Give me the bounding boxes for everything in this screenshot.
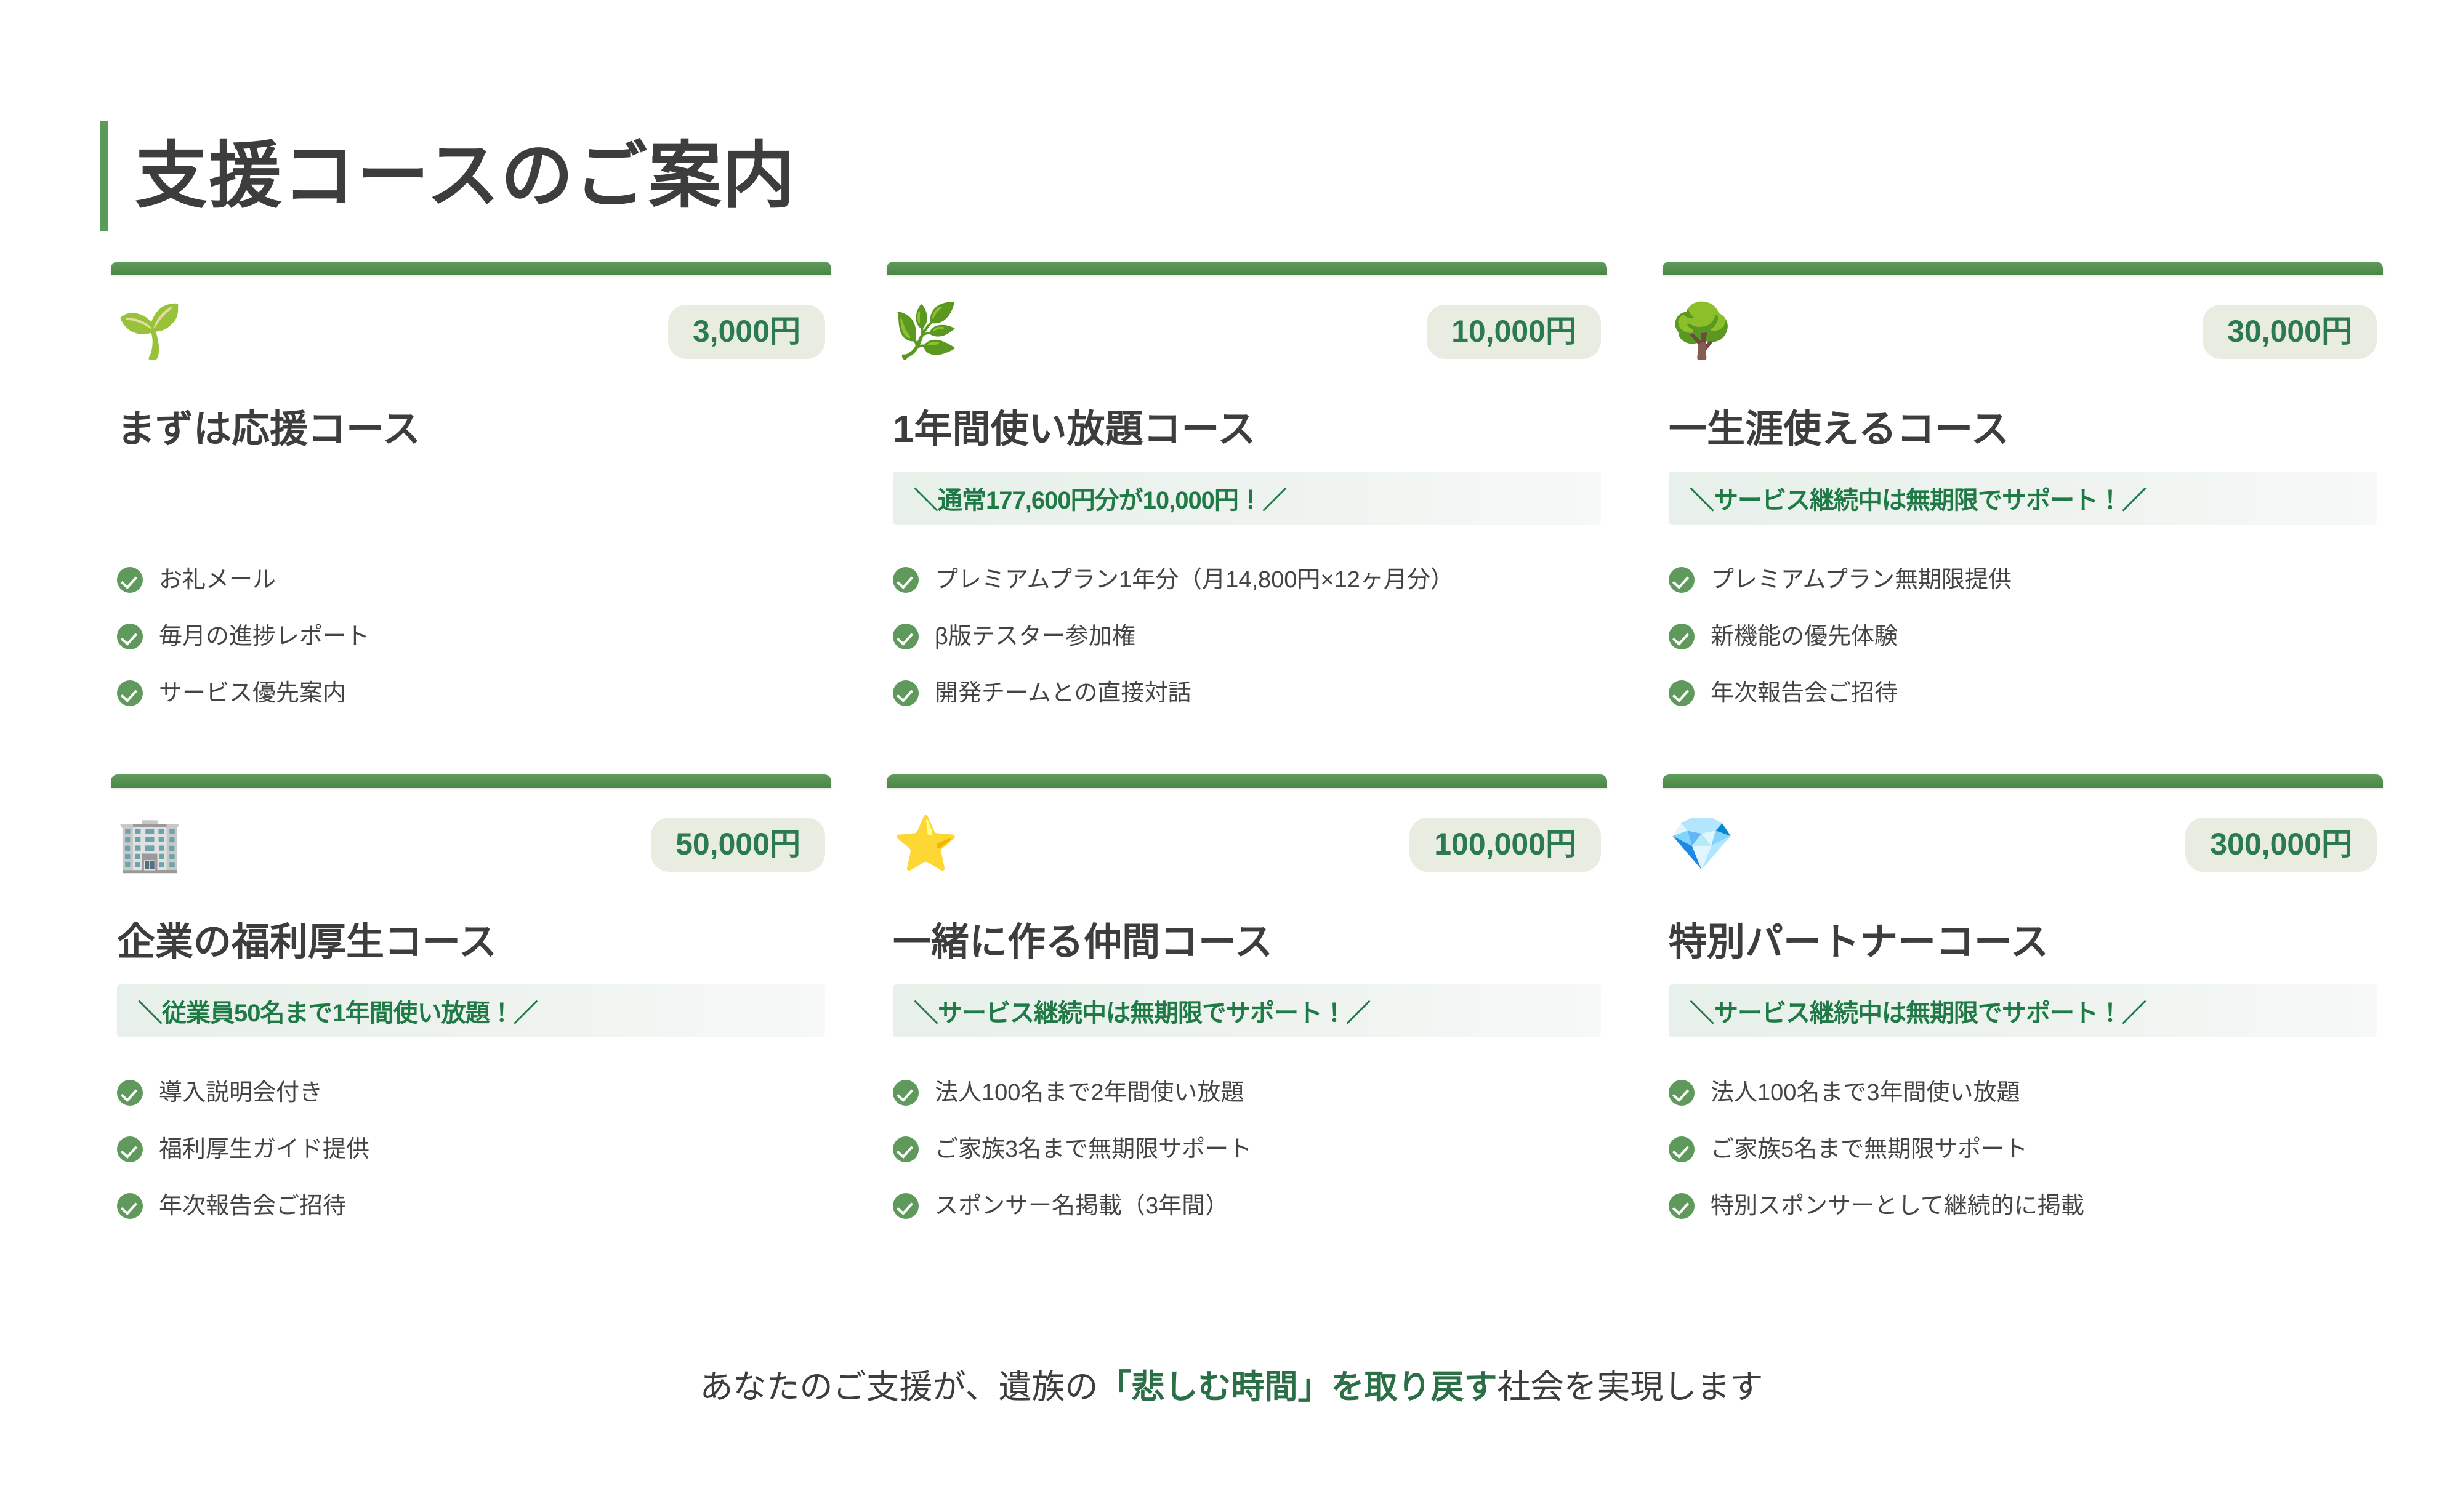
feature-label: サービス優先案内 — [159, 682, 346, 705]
card-highlight-text: ＼従業員50名まで1年間使い放題！／ — [138, 993, 538, 1029]
price-badge: 50,000円 — [651, 818, 825, 872]
course-card-grid: 🌱3,000円まずは応援コースお礼メール毎月の進捗レポートサービス優先案内🌿10… — [111, 262, 2395, 1234]
feature-item: 法人100名まで3年間使い放題 — [1669, 1064, 2377, 1121]
feature-list: 法人100名まで3年間使い放題ご家族5名まで無期限サポート特別スポンサーとして継… — [1669, 1064, 2377, 1234]
footer-tail-text: 社会を実現します — [1497, 1369, 1763, 1405]
feature-item: 特別スポンサーとして継続的に掲載 — [1669, 1178, 2377, 1234]
course-card[interactable]: 🏢50,000円企業の福利厚生コース＼従業員50名まで1年間使い放題！／導入説明… — [111, 774, 831, 1234]
feature-item: スポンサー名掲載（3年間） — [893, 1178, 1601, 1234]
feature-label: 毎月の進捗レポート — [159, 625, 369, 648]
footer-message: あなたのご支援が、遺族の「悲しむ時間」を取り戻す社会を実現します — [0, 1359, 2463, 1408]
feature-item: 福利厚生ガイド提供 — [117, 1121, 825, 1178]
check-circle-icon — [117, 1136, 143, 1162]
feature-label: スポンサー名掲載（3年間） — [935, 1194, 1228, 1218]
check-circle-icon — [1669, 1193, 1695, 1219]
footer-emphasis-text: 「悲しむ時間」を取り戻す — [1098, 1369, 1497, 1405]
course-card[interactable]: 🌱3,000円まずは応援コースお礼メール毎月の進捗レポートサービス優先案内 — [111, 262, 831, 722]
feature-label: 法人100名まで3年間使い放題 — [1711, 1081, 2020, 1104]
card-title: 一生涯使えるコース — [1669, 409, 2377, 449]
card-highlight-text: ＼通常177,600円分が10,000円！／ — [914, 480, 1286, 516]
card-highlight-banner: ＼サービス継続中は無期限でサポート！／ — [1669, 984, 2377, 1037]
card-highlight-banner: ＼従業員50名まで1年間使い放題！／ — [117, 984, 825, 1037]
card-body: 🌱3,000円まずは応援コースお礼メール毎月の進捗レポートサービス優先案内 — [111, 275, 831, 722]
card-header-row: 🌱3,000円 — [117, 305, 825, 377]
card-body: 🌿10,000円1年間使い放題コース＼通常177,600円分が10,000円！／… — [887, 275, 1607, 722]
course-card[interactable]: 🌿10,000円1年間使い放題コース＼通常177,600円分が10,000円！／… — [887, 262, 1607, 722]
gem-icon: 💎 — [1669, 818, 1735, 871]
check-circle-icon — [893, 680, 919, 706]
course-card[interactable]: 💎300,000円特別パートナーコース＼サービス継続中は無期限でサポート！／法人… — [1663, 774, 2383, 1234]
feature-list: お礼メール毎月の進捗レポートサービス優先案内 — [117, 552, 825, 722]
tree-icon: 🌳 — [1669, 305, 1735, 358]
feature-list: プレミアムプラン1年分（月14,800円×12ヶ月分）β版テスター参加権開発チー… — [893, 552, 1601, 722]
feature-label: プレミアムプラン無期限提供 — [1711, 568, 2012, 592]
card-accent-bar — [887, 262, 1607, 275]
check-circle-icon — [117, 1193, 143, 1219]
card-highlight-banner: ＼通常177,600円分が10,000円！／ — [893, 472, 1601, 525]
feature-list: プレミアムプラン無期限提供新機能の優先体験年次報告会ご招待 — [1669, 552, 2377, 722]
card-highlight-text: ＼サービス継続中は無期限でサポート！／ — [914, 993, 1370, 1029]
card-title: 一緒に作る仲間コース — [893, 922, 1601, 962]
price-badge: 300,000円 — [2185, 818, 2377, 872]
feature-item: 年次報告会ご招待 — [1669, 665, 2377, 722]
card-title: 企業の福利厚生コース — [117, 922, 825, 962]
check-circle-icon — [1669, 567, 1695, 593]
card-header-row: 🌿10,000円 — [893, 305, 1601, 377]
star-icon: ⭐ — [893, 818, 959, 871]
feature-item: お礼メール — [117, 552, 825, 608]
check-circle-icon — [1669, 680, 1695, 706]
seedling-icon: 🌱 — [117, 305, 183, 358]
title-accent-bar — [100, 121, 108, 231]
card-highlight-text: ＼サービス継続中は無期限でサポート！／ — [1690, 480, 2146, 516]
check-circle-icon — [117, 1080, 143, 1106]
feature-item: ご家族5名まで無期限サポート — [1669, 1121, 2377, 1178]
check-circle-icon — [117, 567, 143, 593]
course-card[interactable]: 🌳30,000円一生涯使えるコース＼サービス継続中は無期限でサポート！／プレミア… — [1663, 262, 2383, 722]
check-circle-icon — [893, 1136, 919, 1162]
feature-label: 特別スポンサーとして継続的に掲載 — [1711, 1194, 2084, 1218]
check-circle-icon — [117, 624, 143, 649]
page-header: 支援コースのご案内 — [100, 91, 796, 261]
price-badge: 100,000円 — [1409, 818, 1601, 872]
feature-label: ご家族5名まで無期限サポート — [1711, 1138, 2028, 1161]
card-body: 🌳30,000円一生涯使えるコース＼サービス継続中は無期限でサポート！／プレミア… — [1663, 275, 2383, 722]
check-circle-icon — [893, 567, 919, 593]
card-highlight-text: ＼サービス継続中は無期限でサポート！／ — [1690, 993, 2146, 1029]
price-badge: 3,000円 — [668, 305, 825, 359]
feature-item: ご家族3名まで無期限サポート — [893, 1121, 1601, 1178]
check-circle-icon — [893, 1193, 919, 1219]
card-header-row: 💎300,000円 — [1669, 818, 2377, 890]
check-circle-icon — [893, 1080, 919, 1106]
check-circle-icon — [117, 680, 143, 706]
card-highlight-banner: ＼サービス継続中は無期限でサポート！／ — [1669, 472, 2377, 525]
feature-label: 開発チームとの直接対話 — [935, 682, 1191, 705]
card-header-row: 🌳30,000円 — [1669, 305, 2377, 377]
feature-item: 導入説明会付き — [117, 1064, 825, 1121]
price-badge: 10,000円 — [1427, 305, 1601, 359]
page-title: 支援コースのご案内 — [135, 140, 796, 212]
feature-item: β版テスター参加権 — [893, 608, 1601, 665]
card-accent-bar — [111, 774, 831, 788]
feature-label: 新機能の優先体験 — [1711, 625, 1898, 648]
feature-label: 年次報告会ご招待 — [159, 1194, 346, 1218]
feature-item: 毎月の進捗レポート — [117, 608, 825, 665]
feature-item: 新機能の優先体験 — [1669, 608, 2377, 665]
card-title: 特別パートナーコース — [1669, 922, 2377, 962]
check-circle-icon — [893, 624, 919, 649]
card-body: 🏢50,000円企業の福利厚生コース＼従業員50名まで1年間使い放題！／導入説明… — [111, 788, 831, 1234]
card-body: ⭐100,000円一緒に作る仲間コース＼サービス継続中は無期限でサポート！／法人… — [887, 788, 1607, 1234]
card-body: 💎300,000円特別パートナーコース＼サービス継続中は無期限でサポート！／法人… — [1663, 788, 2383, 1234]
feature-label: 福利厚生ガイド提供 — [159, 1138, 369, 1161]
feature-label: β版テスター参加権 — [935, 625, 1135, 648]
card-title: 1年間使い放題コース — [893, 409, 1601, 449]
feature-list: 法人100名まで2年間使い放題ご家族3名まで無期限サポートスポンサー名掲載（3年… — [893, 1064, 1601, 1234]
card-accent-bar — [111, 262, 831, 275]
check-circle-icon — [1669, 1136, 1695, 1162]
card-accent-bar — [1663, 774, 2383, 788]
course-card[interactable]: ⭐100,000円一緒に作る仲間コース＼サービス継続中は無期限でサポート！／法人… — [887, 774, 1607, 1234]
card-accent-bar — [887, 774, 1607, 788]
card-title: まずは応援コース — [117, 409, 825, 449]
feature-label: 導入説明会付き — [159, 1081, 323, 1104]
feature-item: 開発チームとの直接対話 — [893, 665, 1601, 722]
herb-icon: 🌿 — [893, 305, 959, 358]
card-header-row: 🏢50,000円 — [117, 818, 825, 890]
feature-label: お礼メール — [159, 568, 276, 592]
feature-item: 法人100名まで2年間使い放題 — [893, 1064, 1601, 1121]
feature-item: プレミアムプラン無期限提供 — [1669, 552, 2377, 608]
feature-label: 法人100名まで2年間使い放題 — [935, 1081, 1244, 1104]
feature-item: プレミアムプラン1年分（月14,800円×12ヶ月分） — [893, 552, 1601, 608]
card-header-row: ⭐100,000円 — [893, 818, 1601, 890]
price-badge: 30,000円 — [2203, 305, 2377, 359]
feature-label: 年次報告会ご招待 — [1711, 682, 1898, 705]
card-highlight-banner: ＼サービス継続中は無期限でサポート！／ — [893, 984, 1601, 1037]
check-circle-icon — [1669, 624, 1695, 649]
feature-list: 導入説明会付き福利厚生ガイド提供年次報告会ご招待 — [117, 1064, 825, 1234]
feature-item: 年次報告会ご招待 — [117, 1178, 825, 1234]
feature-label: ご家族3名まで無期限サポート — [935, 1138, 1252, 1161]
card-accent-bar — [1663, 262, 2383, 275]
office-building-icon: 🏢 — [117, 818, 183, 871]
feature-label: プレミアムプラン1年分（月14,800円×12ヶ月分） — [935, 568, 1454, 592]
feature-item: サービス優先案内 — [117, 665, 825, 722]
check-circle-icon — [1669, 1080, 1695, 1106]
footer-lead-text: あなたのご支援が、遺族の — [700, 1369, 1098, 1405]
